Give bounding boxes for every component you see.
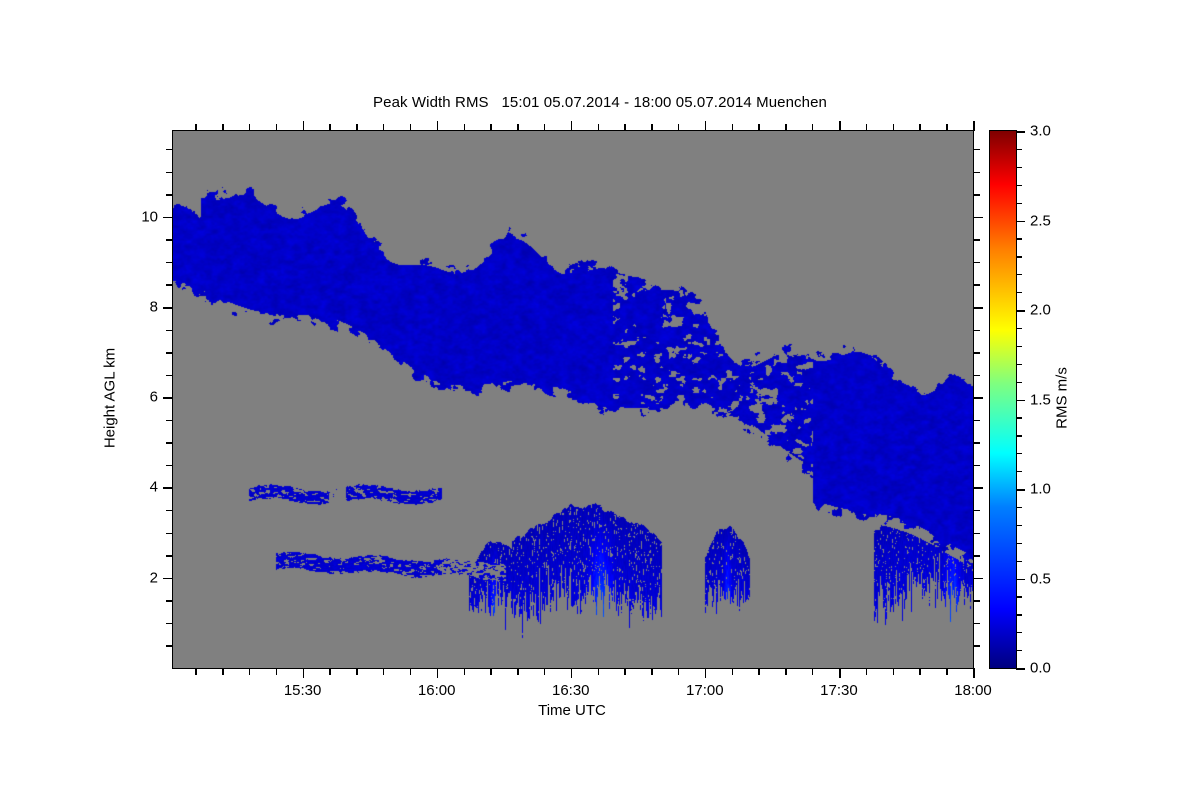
- y-tick-left-6.5: [166, 375, 173, 376]
- y-tick-right-11: [973, 172, 980, 173]
- y-tick-right-3: [973, 533, 980, 534]
- colorbar-tick-0.8: [1016, 525, 1022, 526]
- x-tick-top-15.6: [329, 124, 330, 131]
- y-tick-right-9.5: [973, 239, 980, 240]
- x-tick-bottom-16.5: [571, 668, 573, 678]
- colorbar-tick-1.1: [1016, 471, 1022, 472]
- y-tick-left-8: [163, 307, 173, 309]
- colorbar-tick-2.5: [1016, 221, 1025, 223]
- colorbar-tick-1.7: [1016, 364, 1022, 365]
- colorbar-tick-1: [1016, 489, 1025, 491]
- x-tick-label-0: 15:30: [284, 682, 322, 699]
- colorbar-tick-0.7: [1016, 543, 1022, 544]
- x-tick-top-15.4: [276, 124, 277, 131]
- y-tick-left-7.5: [166, 330, 173, 331]
- y-tick-right-1.5: [973, 600, 980, 601]
- x-tick-bottom-17.1: [732, 668, 733, 675]
- colorbar-tick-0.5: [1016, 579, 1025, 581]
- x-tick-top-16.4: [544, 124, 545, 131]
- y-tick-right-8: [973, 307, 983, 309]
- colorbar-tick-3: [1016, 131, 1025, 133]
- x-tick-top-17.9: [946, 124, 947, 131]
- x-tick-top-16.9: [678, 124, 679, 131]
- x-tick-top-15.3: [249, 124, 250, 131]
- x-tick-top-15.8: [383, 124, 384, 131]
- colorbar-tick-1.2: [1016, 453, 1022, 454]
- y-tick-right-2.5: [973, 555, 980, 556]
- y-tick-right-3.5: [973, 510, 980, 511]
- x-tick-top-17.2: [758, 124, 759, 131]
- y-tick-left-0.5: [166, 645, 173, 646]
- x-tick-top-16.1: [464, 124, 465, 131]
- x-tick-bottom-16.2: [490, 668, 491, 675]
- colorbar: 0.00.51.01.52.02.53.0: [989, 130, 1017, 669]
- y-tick-left-10.5: [166, 194, 173, 195]
- x-tick-top-16: [437, 121, 439, 131]
- x-tick-bottom-16.9: [678, 668, 679, 675]
- x-tick-bottom-17.5: [839, 668, 841, 678]
- y-tick-left-6: [163, 397, 173, 399]
- y-tick-left-10: [163, 217, 173, 219]
- y-tick-right-9: [973, 262, 980, 263]
- colorbar-label-0: 0.0: [1030, 660, 1051, 677]
- y-tick-right-6.5: [973, 375, 980, 376]
- x-tick-bottom-17: [705, 668, 707, 678]
- y-tick-left-3: [166, 533, 173, 534]
- colorbar-tick-0: [1016, 668, 1025, 670]
- colorbar-tick-0.3: [1016, 614, 1022, 615]
- y-tick-right-5: [973, 442, 980, 443]
- x-tick-bottom-15.7: [356, 668, 357, 675]
- y-tick-right-10: [973, 217, 983, 219]
- x-tick-label-2: 16:30: [552, 682, 590, 699]
- colorbar-tick-2.2: [1016, 274, 1022, 275]
- y-tick-right-7.5: [973, 330, 980, 331]
- colorbar-label-0.5: 0.5: [1030, 570, 1051, 587]
- y-tick-left-4: [163, 487, 173, 489]
- colorbar-tick-2.3: [1016, 256, 1022, 257]
- y-tick-right-8.5: [973, 284, 980, 285]
- y-tick-left-8.5: [166, 284, 173, 285]
- x-tick-bottom-15.3: [249, 668, 250, 675]
- x-tick-top-15.2: [222, 124, 223, 131]
- x-tick-top-17.8: [919, 124, 920, 131]
- y-tick-label-10: 10: [141, 208, 158, 225]
- x-tick-bottom-15.8: [383, 668, 384, 675]
- heatmap-field: [173, 131, 973, 668]
- x-tick-top-17.6: [866, 124, 867, 131]
- x-tick-top-17.4: [812, 124, 813, 131]
- x-tick-bottom-15.9: [410, 668, 411, 675]
- colorbar-tick-2.8: [1016, 167, 1022, 168]
- y-tick-label-4: 4: [150, 479, 158, 496]
- x-tick-bottom-16.4: [544, 668, 545, 675]
- x-axis-title: Time UTC: [538, 702, 606, 719]
- x-tick-bottom-16.7: [624, 668, 625, 675]
- colorbar-label-3: 3.0: [1030, 123, 1051, 140]
- y-tick-right-5.5: [973, 420, 980, 421]
- page-title: Peak Width RMS 15:01 05.07.2014 - 18:00 …: [0, 94, 1200, 111]
- x-tick-bottom-18: [973, 668, 975, 678]
- x-tick-top-17.1: [732, 124, 733, 131]
- colorbar-tick-2.4: [1016, 238, 1022, 239]
- x-tick-top-16.8: [651, 124, 652, 131]
- x-tick-bottom-17.7: [893, 668, 894, 675]
- x-tick-bottom-17.8: [919, 668, 920, 675]
- colorbar-tick-0.1: [1016, 650, 1022, 651]
- x-tick-bottom-17.4: [812, 668, 813, 675]
- colorbar-tick-0.6: [1016, 561, 1022, 562]
- y-tick-right-6: [973, 397, 983, 399]
- y-tick-left-11: [166, 172, 173, 173]
- colorbar-tick-0.2: [1016, 632, 1022, 633]
- x-tick-bottom-16.3: [517, 668, 518, 675]
- x-tick-top-15.5: [303, 121, 305, 131]
- y-tick-label-6: 6: [150, 389, 158, 406]
- y-tick-left-2.5: [166, 555, 173, 556]
- x-tick-bottom-16.8: [651, 668, 652, 675]
- x-tick-bottom-15.2: [222, 668, 223, 675]
- y-tick-left-11.5: [166, 149, 173, 150]
- colorbar-label-1: 1.0: [1030, 481, 1051, 498]
- x-tick-top-16.3: [517, 124, 518, 131]
- y-tick-left-4.5: [166, 465, 173, 466]
- x-tick-bottom-15.1: [195, 668, 196, 675]
- y-tick-right-11.5: [973, 149, 980, 150]
- x-tick-bottom-16.6: [598, 668, 599, 675]
- x-tick-bottom-16.1: [464, 668, 465, 675]
- y-tick-left-2: [163, 578, 173, 580]
- y-tick-left-1.5: [166, 600, 173, 601]
- x-tick-top-16.6: [598, 124, 599, 131]
- colorbar-title: RMS m/s: [1054, 367, 1071, 429]
- y-tick-left-1: [166, 623, 173, 624]
- colorbar-tick-2.7: [1016, 185, 1022, 186]
- colorbar-tick-1.4: [1016, 417, 1022, 418]
- colorbar-tick-2.6: [1016, 203, 1022, 204]
- y-tick-left-9.5: [166, 239, 173, 240]
- x-tick-top-17.5: [839, 121, 841, 131]
- x-tick-bottom-17.2: [758, 668, 759, 675]
- x-tick-top-16.2: [490, 124, 491, 131]
- x-tick-label-3: 17:00: [686, 682, 724, 699]
- figure: Peak Width RMS 15:01 05.07.2014 - 18:00 …: [0, 0, 1200, 800]
- x-tick-top-16.7: [624, 124, 625, 131]
- y-tick-right-2: [973, 578, 983, 580]
- x-tick-bottom-17.9: [946, 668, 947, 675]
- y-tick-label-2: 2: [150, 569, 158, 586]
- x-tick-top-15.9: [410, 124, 411, 131]
- x-tick-top-15.7: [356, 124, 357, 131]
- colorbar-label-2.5: 2.5: [1030, 212, 1051, 229]
- x-tick-top-17: [705, 121, 707, 131]
- plot-area: 24681015:3016:0016:3017:0017:3018:00: [172, 130, 974, 669]
- x-tick-label-1: 16:00: [418, 682, 456, 699]
- y-axis-title: Height AGL km: [102, 348, 119, 448]
- y-tick-right-1: [973, 623, 980, 624]
- x-tick-top-16.5: [571, 121, 573, 131]
- colorbar-tick-1.8: [1016, 346, 1022, 347]
- colorbar-label-1.5: 1.5: [1030, 391, 1051, 408]
- y-tick-left-9: [166, 262, 173, 263]
- y-tick-label-8: 8: [150, 298, 158, 315]
- y-tick-right-0.5: [973, 645, 980, 646]
- colorbar-tick-2: [1016, 310, 1025, 312]
- colorbar-tick-2.1: [1016, 292, 1022, 293]
- x-tick-top-17.3: [785, 124, 786, 131]
- colorbar-tick-0.9: [1016, 507, 1022, 508]
- colorbar-tick-2.9: [1016, 149, 1022, 150]
- x-tick-bottom-15.4: [276, 668, 277, 675]
- x-tick-top-18: [973, 121, 975, 131]
- x-tick-label-4: 17:30: [820, 682, 858, 699]
- x-tick-top-15.1: [195, 124, 196, 131]
- y-tick-left-3.5: [166, 510, 173, 511]
- x-tick-bottom-15.5: [303, 668, 305, 678]
- colorbar-label-2: 2.0: [1030, 302, 1051, 319]
- y-tick-right-7: [973, 352, 980, 353]
- y-tick-right-10.5: [973, 194, 980, 195]
- x-tick-bottom-17.6: [866, 668, 867, 675]
- x-tick-bottom-16: [437, 668, 439, 678]
- y-tick-left-7: [166, 352, 173, 353]
- colorbar-tick-0.4: [1016, 596, 1022, 597]
- colorbar-tick-1.9: [1016, 328, 1022, 329]
- x-tick-top-17.7: [893, 124, 894, 131]
- y-tick-left-5: [166, 442, 173, 443]
- y-tick-right-4: [973, 487, 983, 489]
- x-tick-label-5: 18:00: [954, 682, 992, 699]
- y-tick-left-5.5: [166, 420, 173, 421]
- colorbar-tick-1.3: [1016, 435, 1022, 436]
- colorbar-tick-1.6: [1016, 382, 1022, 383]
- x-tick-bottom-15.6: [329, 668, 330, 675]
- y-tick-right-4.5: [973, 465, 980, 466]
- x-tick-bottom-17.3: [785, 668, 786, 675]
- colorbar-tick-1.5: [1016, 400, 1025, 402]
